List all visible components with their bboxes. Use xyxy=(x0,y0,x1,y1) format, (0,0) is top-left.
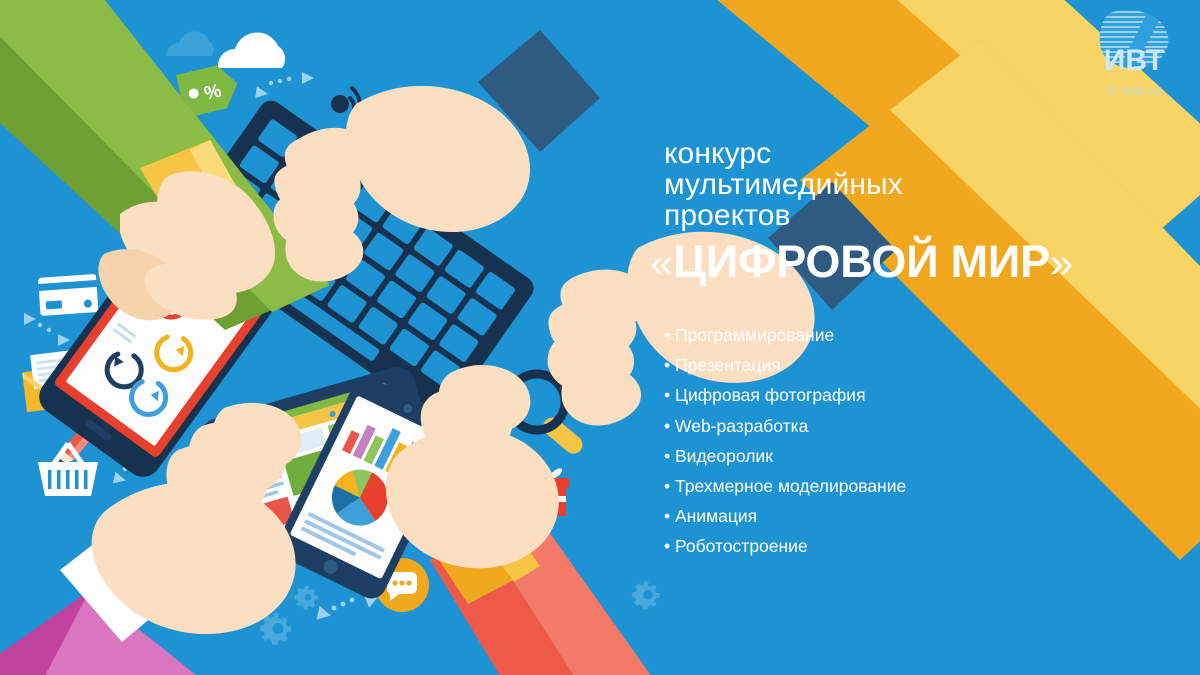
list-item: •Роботостроение xyxy=(664,531,1084,561)
list-item: •Презентация xyxy=(664,350,1084,380)
vivt-logo-mark: ИВТ xyxy=(1082,8,1186,80)
open-quote: « xyxy=(650,239,673,286)
headline-block: конкурс мультимедийных проектов «ЦИФРОВО… xyxy=(664,138,1164,289)
vivt-logo-wordmark: ИВТ xyxy=(1104,44,1164,77)
list-item-label: Презентация xyxy=(675,355,781,375)
bullet-icon: • xyxy=(664,531,675,561)
vivt-logo: ИВТ © vivt.ru xyxy=(1082,8,1186,106)
list-item: •Анимация xyxy=(664,501,1084,531)
title-text: ЦИФРОВОЙ МИР xyxy=(673,236,1050,287)
list-item: •Web-разработка xyxy=(664,411,1084,441)
bullet-icon: • xyxy=(664,380,675,410)
list-item: •Цифровая фотография xyxy=(664,380,1084,410)
subtitle-line-3: проектов xyxy=(664,200,1164,231)
list-item: •Трехмерное моделирование xyxy=(664,471,1084,501)
copyright-label: © vivt.ru xyxy=(1082,83,1186,98)
bullet-icon: • xyxy=(664,501,675,531)
bullet-icon: • xyxy=(664,320,675,350)
subtitle-line-1: конкурс xyxy=(664,138,1164,169)
list-item-label: Видеоролик xyxy=(675,446,773,466)
list-item: •Программирование xyxy=(664,320,1084,350)
list-item: •Видеоролик xyxy=(664,441,1084,471)
bullet-icon: • xyxy=(664,441,675,471)
bullet-icon: • xyxy=(664,411,675,441)
list-item-label: Анимация xyxy=(675,506,757,526)
poster-canvas: % xyxy=(0,0,1200,675)
subtitle-line-2: мультимедийных xyxy=(664,169,1164,200)
credit-card-icon xyxy=(38,274,99,316)
page-title: «ЦИФРОВОЙ МИР» xyxy=(650,236,1164,289)
list-item-label: Цифровая фотография xyxy=(675,385,866,405)
list-item-label: Web-разработка xyxy=(675,416,808,436)
bullet-icon: • xyxy=(664,350,675,380)
category-list: •Программирование •Презентация •Цифровая… xyxy=(664,320,1084,562)
close-quote: » xyxy=(1050,239,1073,286)
list-item-label: Программирование xyxy=(675,325,834,345)
bullet-icon: • xyxy=(664,471,675,501)
list-item-label: Трехмерное моделирование xyxy=(675,476,906,496)
list-item-label: Роботостроение xyxy=(675,536,808,556)
